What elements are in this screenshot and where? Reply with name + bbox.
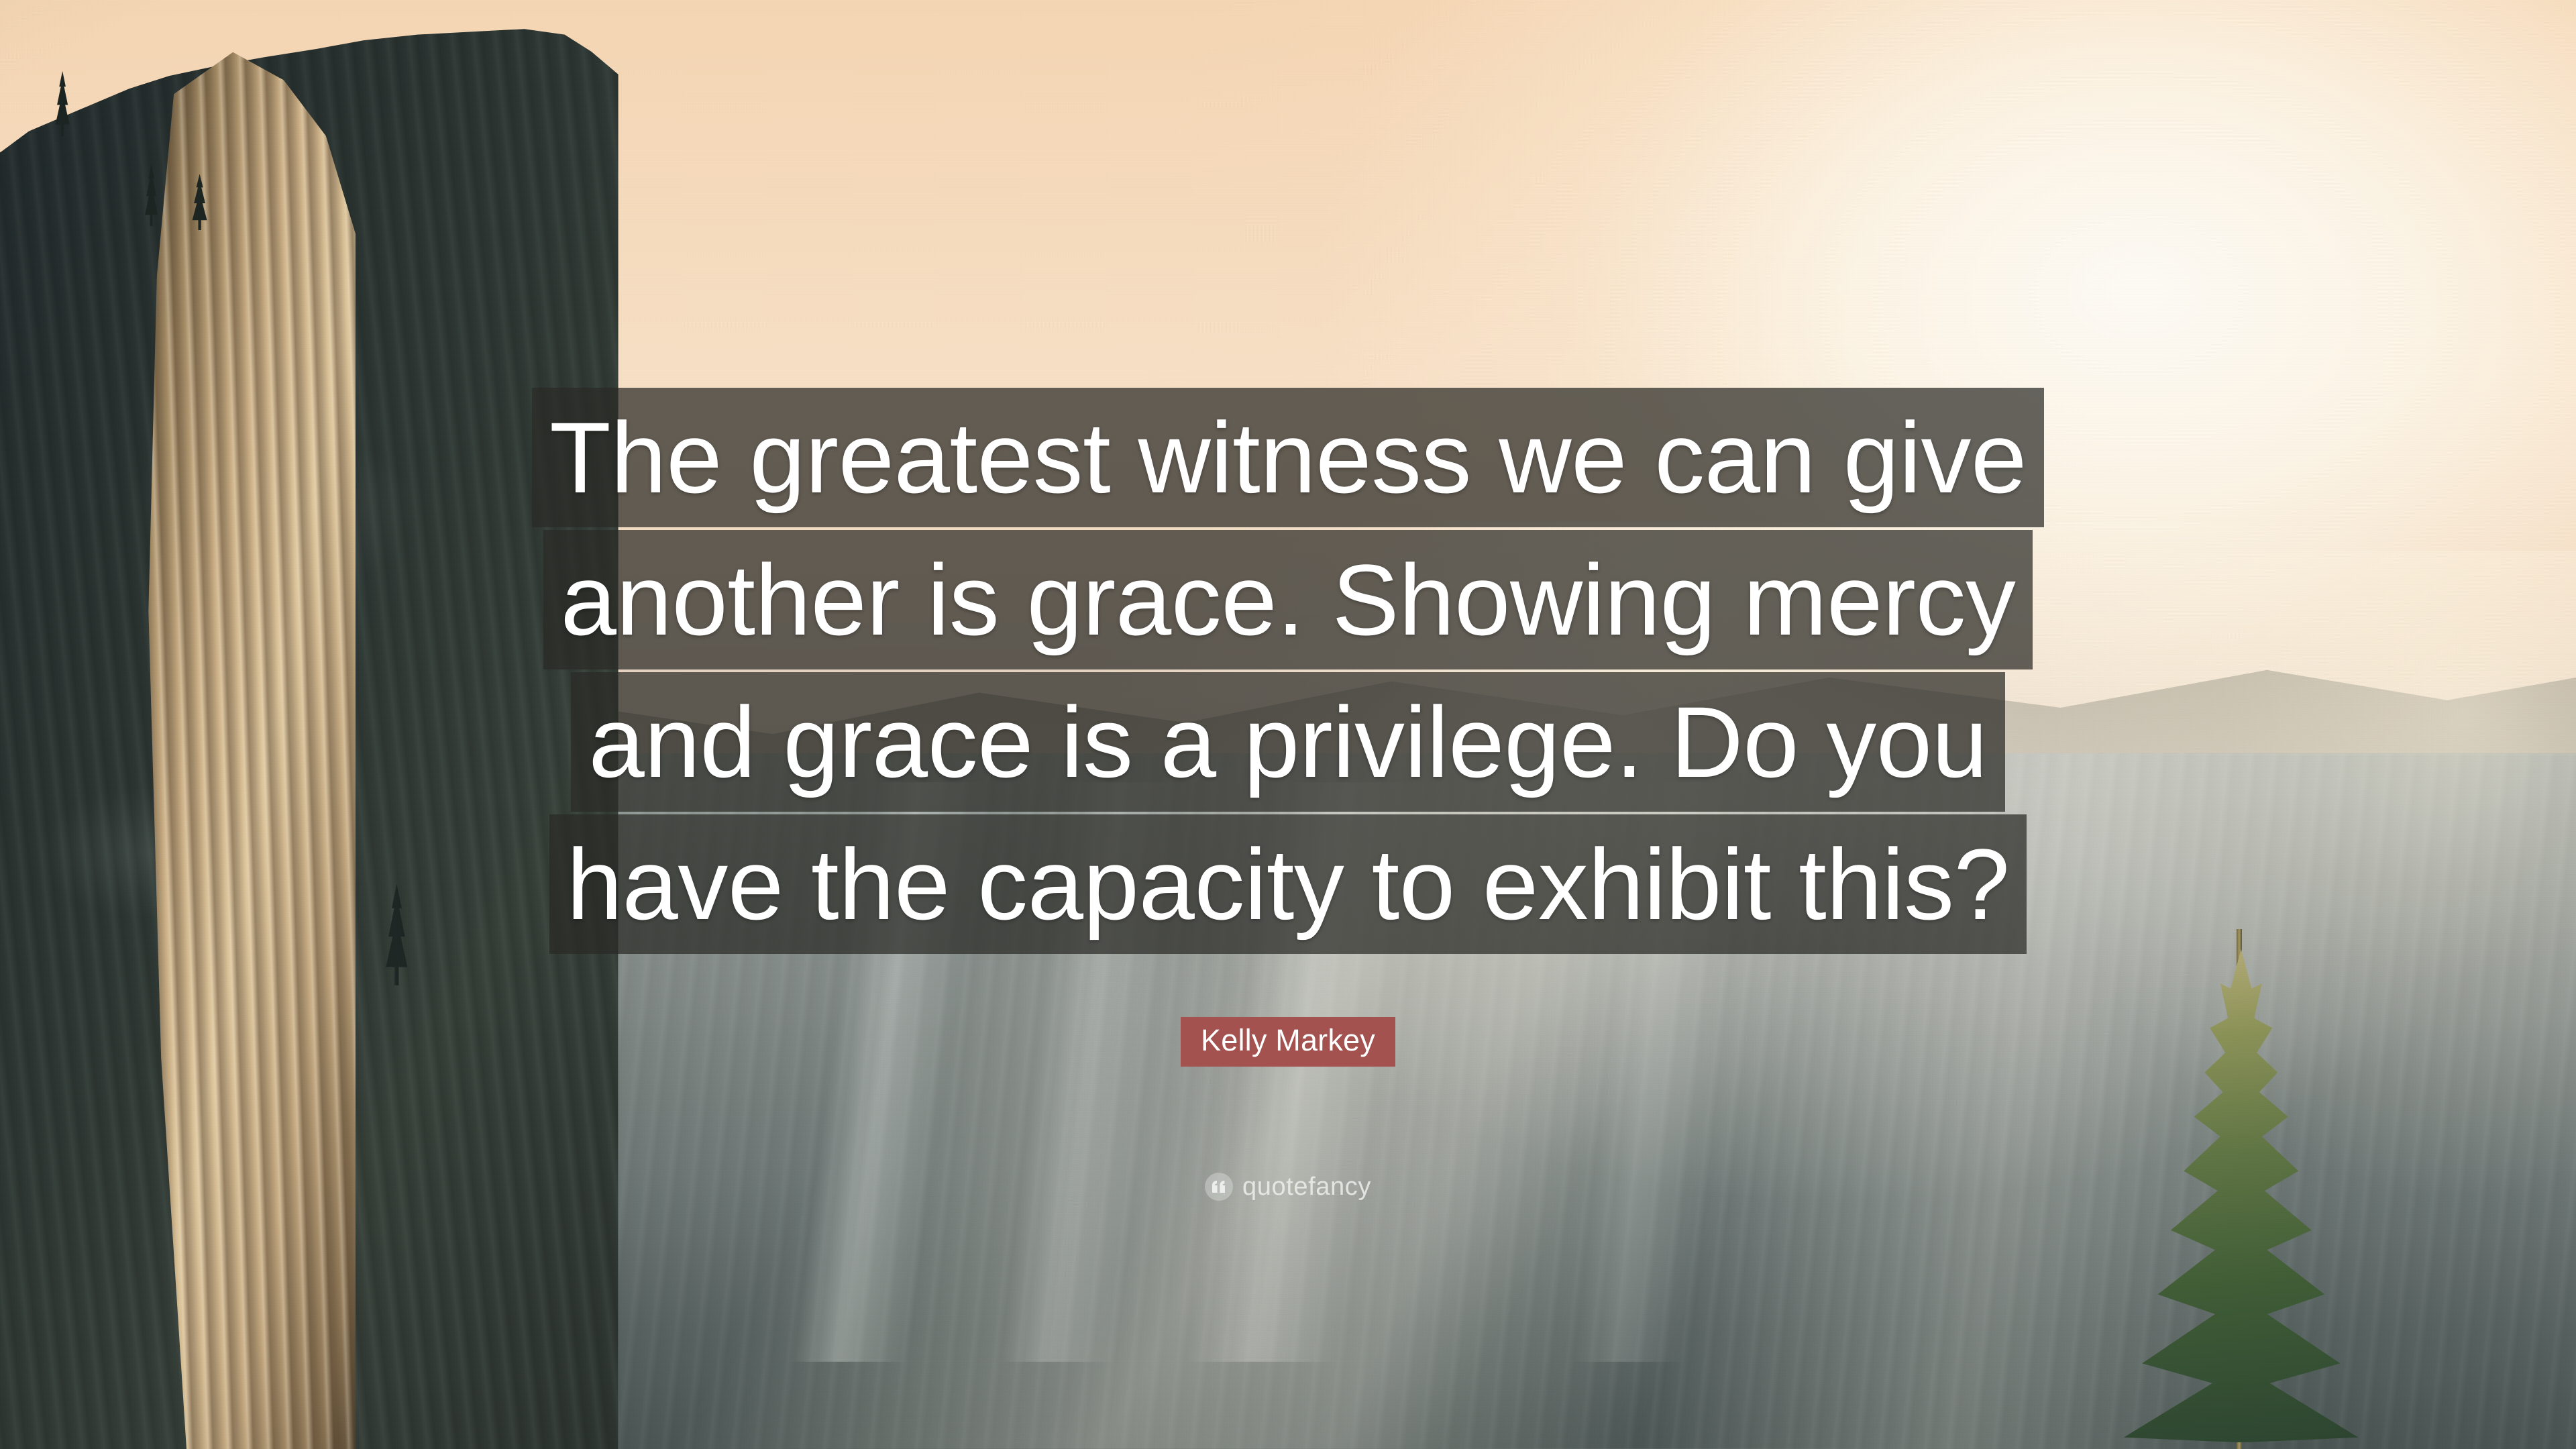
- quote-line: The greatest witness we can give: [532, 388, 2044, 527]
- author-name-chip: Kelly Markey: [1181, 1017, 1395, 1067]
- quote-mark-icon: [1205, 1173, 1233, 1201]
- quote-line: and grace is a privilege. Do you: [571, 672, 2004, 812]
- quote-text-block: The greatest witness we can give another…: [0, 388, 2576, 954]
- quote-line: another is grace. Showing mercy: [543, 530, 2033, 669]
- quotefancy-brand-label: quotefancy: [1242, 1173, 1371, 1201]
- quote-poster: The greatest witness we can give another…: [0, 0, 2576, 1449]
- author-attribution: Kelly Markey: [0, 1017, 2576, 1067]
- quote-line: have the capacity to exhibit this?: [549, 814, 2027, 954]
- quotefancy-watermark: quotefancy: [0, 1173, 2576, 1201]
